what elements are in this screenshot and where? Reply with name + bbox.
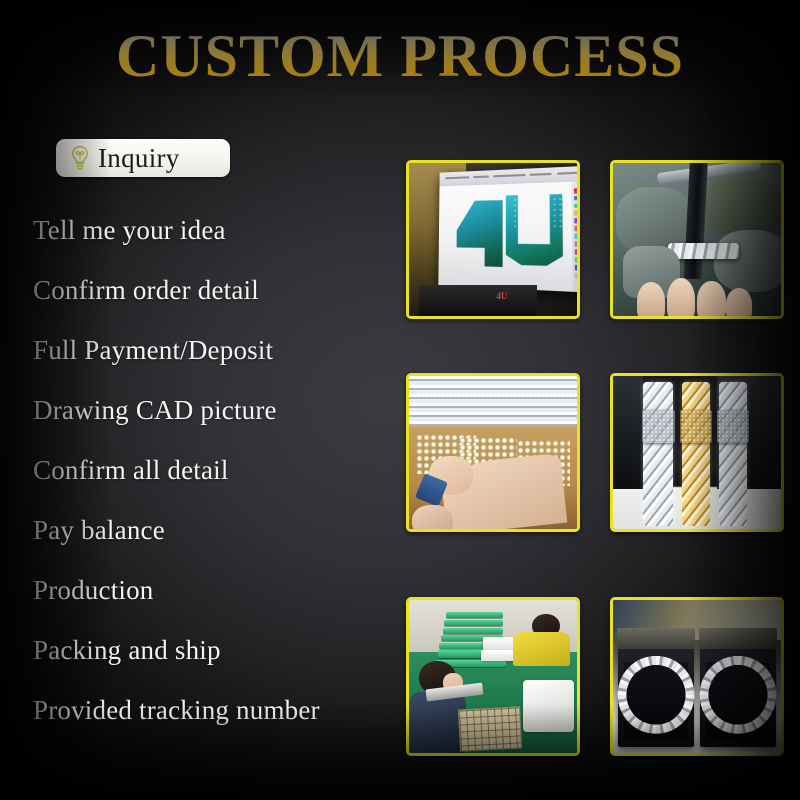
step-item: Production — [33, 560, 393, 620]
inquiry-label: Inquiry — [98, 145, 180, 172]
step-item: Confirm all detail — [33, 440, 393, 500]
cad-screen-logo: 4U — [496, 291, 507, 301]
photo-finished-cuban-chains — [610, 373, 784, 532]
process-steps-list: Tell me your idea Confirm order detail F… — [33, 200, 393, 740]
process-photo-grid: 4U — [406, 160, 778, 758]
photo-stone-setting-table — [406, 373, 580, 532]
inquiry-badge[interactable]: Inquiry — [56, 139, 230, 177]
page-title: CUSTOM PROCESS — [0, 26, 800, 86]
stone-setting-table-image — [409, 376, 577, 529]
photo-gift-boxed-chains — [610, 597, 784, 756]
step-item: Packing and ship — [33, 620, 393, 680]
custom-process-poster: CUSTOM PROCESS Inquiry Tell me your idea… — [0, 0, 800, 800]
lightbulb-icon — [69, 145, 91, 171]
photo-polishing-bench — [610, 160, 784, 319]
finished-cuban-chains-image — [613, 376, 781, 529]
polishing-bench-image — [613, 163, 781, 316]
step-item: Drawing CAD picture — [33, 380, 393, 440]
step-item: Confirm order detail — [33, 260, 393, 320]
step-item: Tell me your idea — [33, 200, 393, 260]
cad-design-monitor-image: 4U — [409, 163, 577, 316]
step-item: Full Payment/Deposit — [33, 320, 393, 380]
step-item: Provided tracking number — [33, 680, 393, 740]
photo-cad-design-monitor: 4U — [406, 160, 580, 319]
packing-workshop-image — [409, 600, 577, 753]
gift-boxed-chains-image — [613, 600, 781, 753]
step-item: Pay balance — [33, 500, 393, 560]
photo-packing-workshop — [406, 597, 580, 756]
